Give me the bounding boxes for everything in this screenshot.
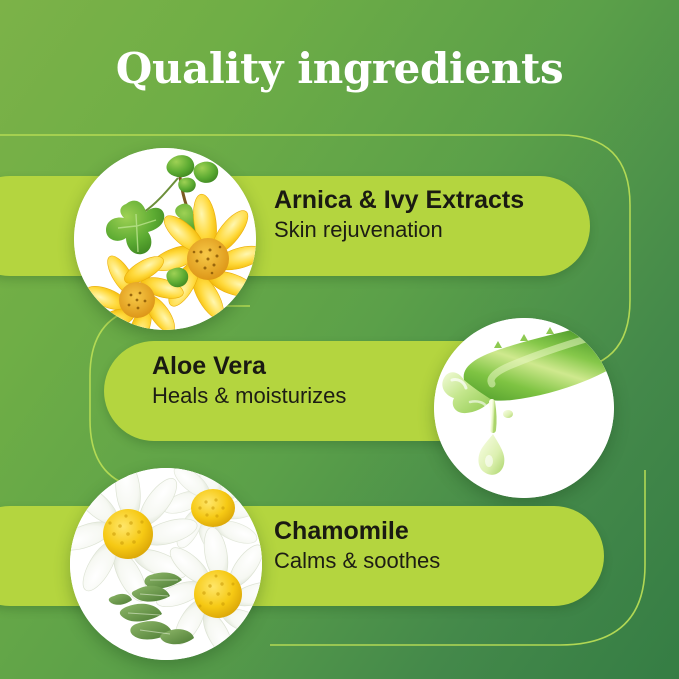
ingredient-name: Chamomile	[274, 517, 584, 546]
chamomile-photo	[70, 468, 262, 660]
arnica-ivy-illustration	[74, 148, 256, 330]
ingredient-text-arnica: Arnica & Ivy Extracts Skin rejuvenation	[274, 186, 584, 243]
aloe-vera-illustration	[434, 318, 614, 498]
ingredient-description: Heals & moisturizes	[152, 383, 452, 409]
ingredient-name: Aloe Vera	[152, 352, 452, 381]
ingredient-description: Skin rejuvenation	[274, 217, 584, 243]
ingredient-name: Arnica & Ivy Extracts	[274, 186, 584, 215]
quality-ingredients-poster: Quality ingredients	[0, 0, 679, 679]
ingredient-description: Calms & soothes	[274, 548, 584, 574]
page-title: Quality ingredients	[0, 46, 679, 92]
arnica-ivy-photo	[74, 148, 256, 330]
aloe-vera-photo	[434, 318, 614, 498]
ingredient-text-aloe: Aloe Vera Heals & moisturizes	[152, 352, 452, 409]
chamomile-illustration	[70, 468, 262, 660]
ingredient-text-chamomile: Chamomile Calms & soothes	[274, 517, 584, 574]
